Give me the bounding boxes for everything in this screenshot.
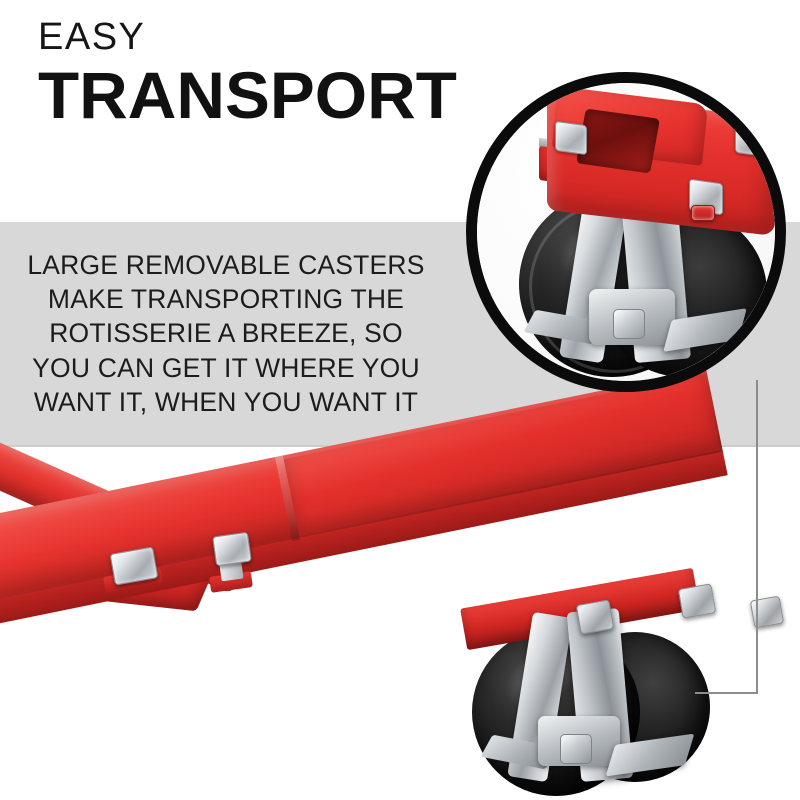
axle-nut xyxy=(613,309,645,339)
description-line: ROTISSERIE A BREEZE, SO xyxy=(0,316,452,350)
description-line: WANT IT, WHEN YOU WANT IT xyxy=(0,385,452,419)
hex-bolt-icon xyxy=(678,583,717,618)
hex-bolt-icon xyxy=(555,121,587,155)
description-line: LARGE REMOVABLE CASTERS xyxy=(0,248,452,282)
caster-leader-line-horizontal xyxy=(695,692,757,694)
hex-bolt-icon xyxy=(576,599,615,634)
caster-leader-line-vertical xyxy=(756,380,758,694)
description-line: YOU CAN GET IT WHERE YOU xyxy=(0,351,452,385)
hex-bolt-icon xyxy=(735,121,767,157)
eyebrow-text: EASY xyxy=(38,18,449,56)
hex-bolt-icon xyxy=(750,596,784,629)
bolt-collar xyxy=(691,205,715,221)
description-text: LARGE REMOVABLE CASTERS MAKE TRANSPORTIN… xyxy=(0,248,452,419)
headline-block: EASY TRANSPORT xyxy=(38,18,449,129)
promo-image-canvas: EASY TRANSPORT LARGE REMOVABLE CASTERS M… xyxy=(0,0,800,800)
caster-closeup-photo xyxy=(477,83,775,381)
hex-bolt-icon xyxy=(212,532,252,567)
axle-nut xyxy=(560,734,592,764)
description-line: MAKE TRANSPORTING THE xyxy=(0,282,452,316)
page-title: TRANSPORT xyxy=(38,62,457,129)
square-tube-socket xyxy=(576,108,660,173)
caster-closeup-circle xyxy=(466,72,786,392)
